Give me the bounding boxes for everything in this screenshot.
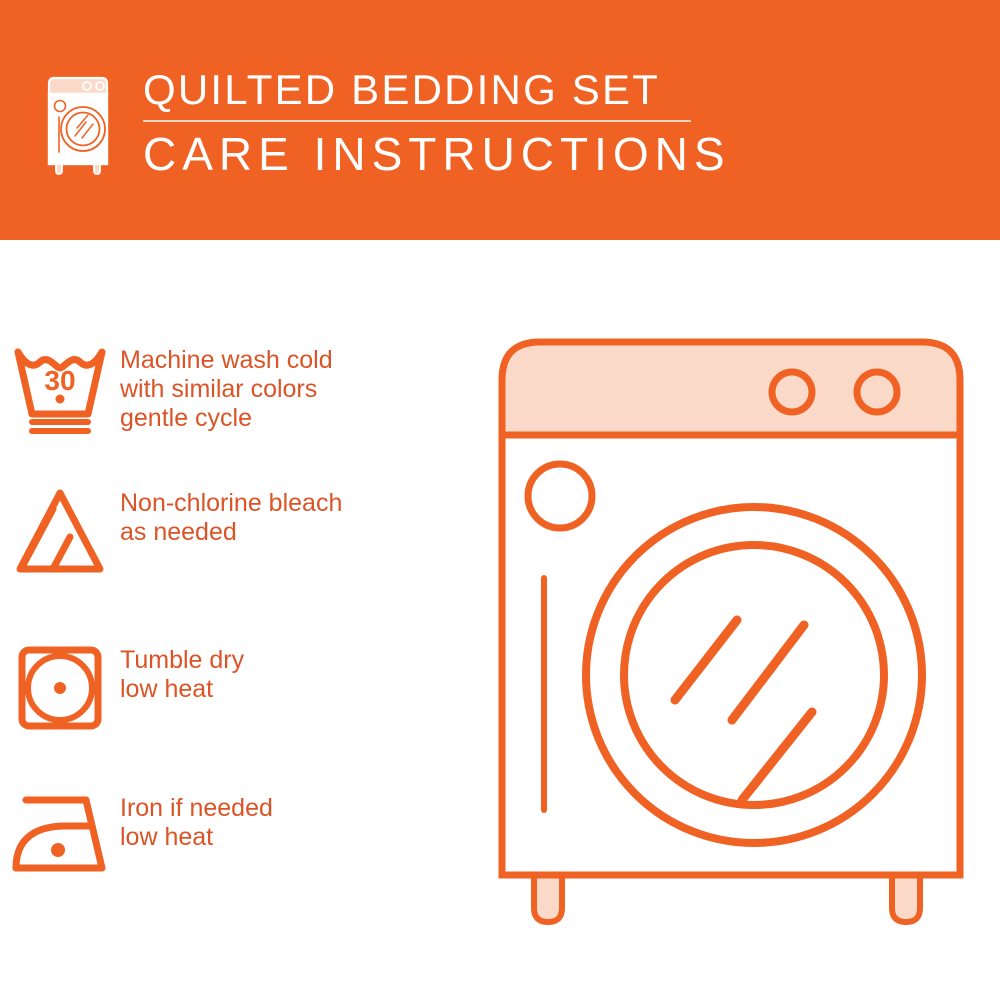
care-instruction-row: Tumble dry low heat	[0, 640, 470, 734]
triangle-bleach-icon	[0, 483, 120, 577]
washing-machine-icon	[44, 72, 120, 176]
page-subtitle: CARE INSTRUCTIONS	[143, 128, 703, 180]
care-instruction-label: Non-chlorine bleach as needed	[120, 483, 342, 547]
tumble-dry-icon	[0, 640, 120, 734]
svg-text:30: 30	[44, 365, 75, 396]
iron-icon	[0, 788, 120, 878]
care-instruction-row: Non-chlorine bleach as needed	[0, 483, 470, 577]
care-instruction-label: Tumble dry low heat	[120, 640, 244, 704]
header-band: QUILTED BEDDING SET CARE INSTRUCTIONS	[0, 0, 1000, 240]
page-title: QUILTED BEDDING SET	[143, 66, 703, 114]
care-instruction-label: Machine wash cold with similar colors ge…	[120, 340, 333, 433]
header-text-block: QUILTED BEDDING SET CARE INSTRUCTIONS	[143, 66, 703, 180]
care-instruction-row: Iron if needed low heat	[0, 788, 470, 878]
care-instruction-row: 30 Machine wash cold with similar colors…	[0, 340, 470, 434]
header-divider	[143, 120, 691, 122]
care-instruction-label: Iron if needed low heat	[120, 788, 273, 852]
care-instructions-list: 30 Machine wash cold with similar colors…	[0, 240, 480, 1000]
wash-basin-30-icon: 30	[0, 340, 120, 434]
washing-machine-illustration	[492, 330, 972, 940]
